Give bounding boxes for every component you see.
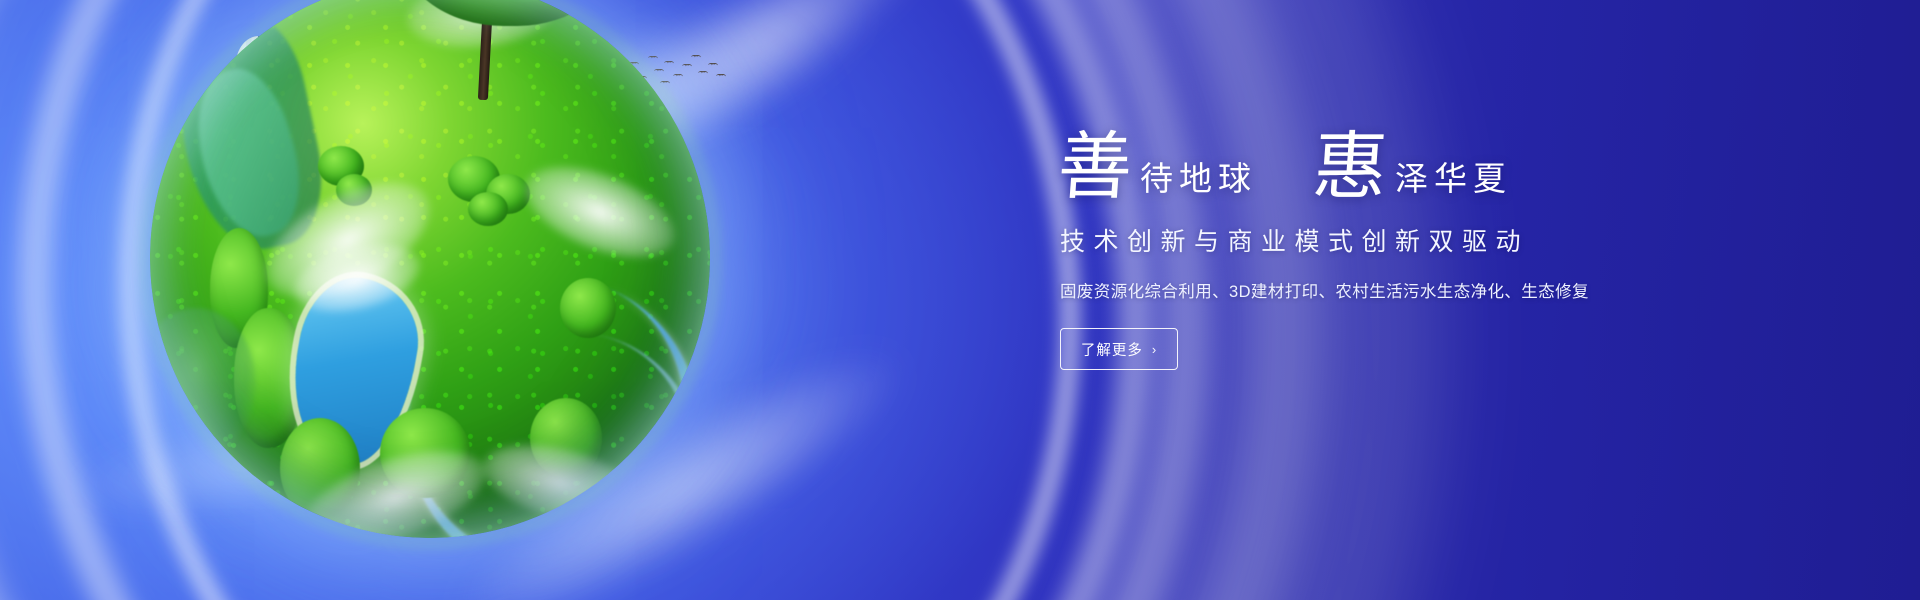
page-title: 善 待地球 惠 泽华夏 (1058, 134, 1858, 202)
hero-copy-block: 善 待地球 惠 泽华夏 技术创新与商业模式创新双驱动 固废资源化综合利用、3D建… (1058, 134, 1858, 370)
tree-icon (468, 192, 508, 226)
headline-rest-chars: 泽华夏 (1395, 164, 1512, 197)
hero-banner: 善 待地球 惠 泽华夏 技术创新与商业模式创新双驱动 固废资源化综合利用、3D建… (0, 0, 1920, 600)
hero-subtitle: 技术创新与商业模式创新双驱动 (1060, 222, 1858, 258)
tree-icon (560, 278, 616, 338)
learn-more-button[interactable]: 了解更多 › (1060, 328, 1178, 370)
headline-lead-char: 善 (1056, 134, 1135, 202)
headline-segment-1: 善 待地球 (1058, 134, 1257, 202)
headline-segment-2: 惠 泽华夏 (1313, 134, 1512, 202)
earth-globe-artwork (150, 0, 710, 538)
learn-more-label: 了解更多 (1081, 339, 1143, 360)
chevron-right-icon: › (1152, 342, 1157, 357)
headline-rest-chars: 待地球 (1140, 164, 1257, 197)
hero-description: 固废资源化综合利用、3D建材打印、农村生活污水生态净化、生态修复 (1060, 278, 1858, 302)
headline-lead-char: 惠 (1311, 134, 1390, 202)
